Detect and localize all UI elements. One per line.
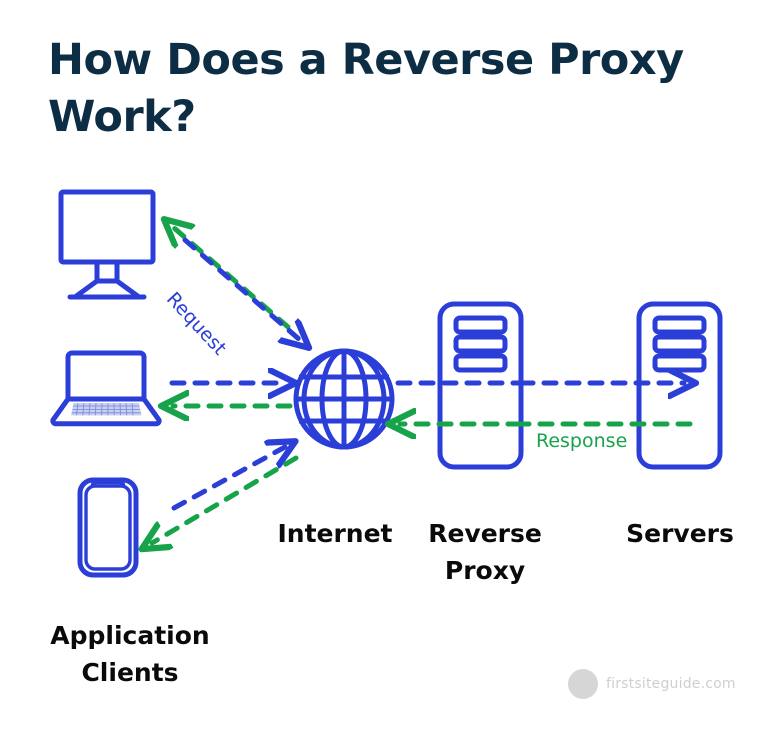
infographic-canvas: How Does a Reverse Proxy Work? bbox=[0, 0, 768, 738]
desktop-monitor-icon bbox=[61, 192, 153, 297]
watermark-text: firstsiteguide.com bbox=[606, 676, 736, 692]
flow-label-response: Response bbox=[536, 430, 627, 452]
server-rack-icon-servers bbox=[639, 304, 720, 467]
smartphone-icon bbox=[80, 480, 136, 575]
watermark-badge bbox=[568, 669, 598, 699]
globe-icon bbox=[296, 351, 392, 447]
node-label-application-clients: Application Clients bbox=[20, 617, 240, 691]
watermark: firstsiteguide.com bbox=[568, 669, 736, 699]
node-label-reverse-proxy: Reverse Proxy bbox=[400, 515, 570, 589]
node-label-internet: Internet bbox=[250, 515, 420, 552]
node-label-servers: Servers bbox=[595, 515, 765, 552]
laptop-keyboard-icon bbox=[71, 403, 142, 416]
